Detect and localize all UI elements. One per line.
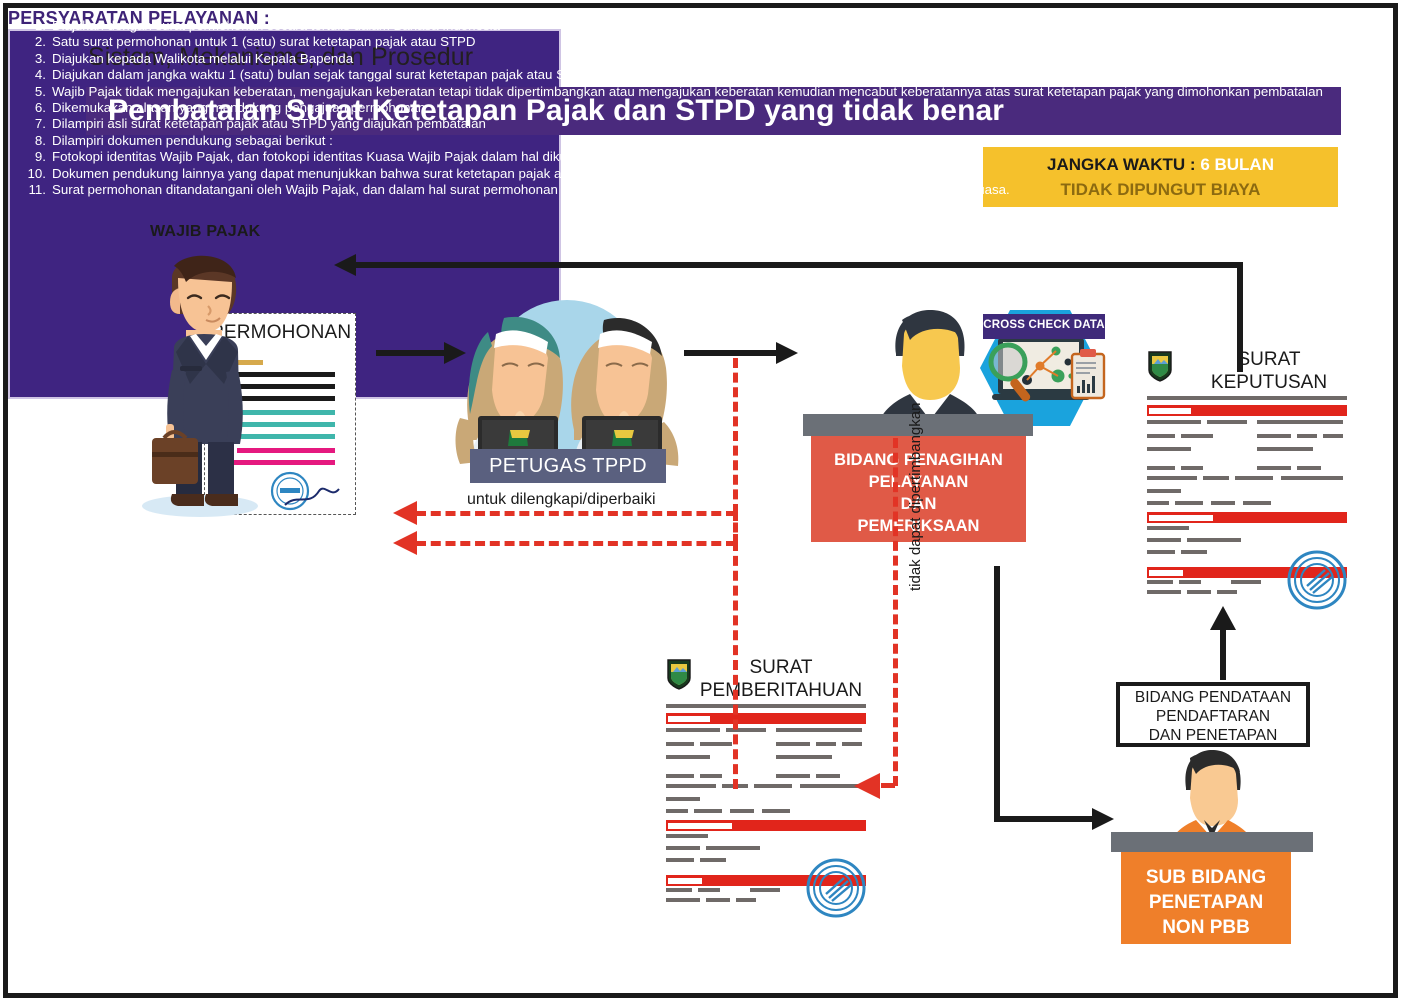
persyaratan-item: 11.Surat permohonan ditandatangani oleh … bbox=[22, 182, 1387, 198]
petugas-to-penagihan-arrow-line bbox=[684, 350, 776, 356]
wajib-pajak-label: WAJIB PAJAK bbox=[150, 223, 260, 241]
official-stamp-icon bbox=[1285, 548, 1349, 612]
red-pemberitahuan-horizontal bbox=[881, 783, 895, 788]
bidang-pendataan-line-2: DAN PENETAPAN bbox=[1149, 727, 1278, 744]
persyaratan-item-number: 11. bbox=[22, 182, 46, 198]
persyaratan-item: 9.Fotokopi identitas Wajib Pajak, dan fo… bbox=[22, 149, 1387, 165]
persyaratan-item: 3.Diajukan kepada Walikota melalui Kepal… bbox=[22, 51, 1387, 67]
city-crest-icon bbox=[666, 658, 692, 690]
persyaratan-item-number: 2. bbox=[22, 34, 46, 50]
sub-bidang-figure bbox=[1164, 748, 1260, 838]
penagihan-to-subbidang-line-vertical bbox=[994, 566, 1000, 822]
surat-keputusan-line-1: KEPUTUSAN bbox=[1185, 371, 1353, 394]
red-return-1-horizontal bbox=[416, 511, 736, 516]
persyaratan-item-number: 8. bbox=[22, 133, 46, 149]
persyaratan-item-text: Fotokopi identitas Wajib Pajak, dan foto… bbox=[52, 149, 614, 164]
perbaiki-note: untuk dilengkapi/diperbaiki bbox=[467, 491, 656, 509]
persyaratan-item-text: Dilampiri dokumen pendukung sebagai beri… bbox=[52, 133, 333, 148]
persyaratan-item-number: 1. bbox=[22, 18, 46, 34]
persyaratan-item: 8.Dilampiri dokumen pendukung sebagai be… bbox=[22, 133, 1387, 149]
persyaratan-list: 1.Diajukan dengan surat permohonan secar… bbox=[22, 18, 1387, 198]
red-pemberitahuan-arrow-head bbox=[854, 773, 880, 799]
persyaratan-item-text: Dikemukakan alasan yang mendukung pengaj… bbox=[52, 100, 425, 115]
persyaratan-item-number: 9. bbox=[22, 149, 46, 165]
red-return-2-arrow-head bbox=[393, 531, 417, 555]
cross-check-data-label: CROSS CHECK DATA bbox=[983, 319, 1105, 331]
official-stamp-icon bbox=[804, 856, 868, 920]
petugas-tppd-label-plate: PETUGAS TPPD bbox=[470, 449, 666, 483]
poster-frame: Sistem, Mekanisme, dan Prosedur Pembatal… bbox=[3, 3, 1398, 998]
sub-bidang-line-2: NON PBB bbox=[1121, 915, 1291, 940]
wp-to-petugas-arrow-line bbox=[376, 350, 444, 356]
persyaratan-item: 4.Diajukan dalam jangka waktu 1 (satu) b… bbox=[22, 67, 1387, 83]
persyaratan-item: 10.Dokumen pendukung lainnya yang dapat … bbox=[22, 166, 1387, 182]
sub-bidang-desk bbox=[1111, 832, 1313, 852]
persyaratan-item: 2.Satu surat permohonan untuk 1 (satu) s… bbox=[22, 34, 1387, 50]
red-return-1-vertical bbox=[733, 358, 738, 514]
persyaratan-item-text: Wajib Pajak tidak mengajukan keberatan, … bbox=[52, 84, 1323, 99]
persyaratan-item: 7.Dilampiri asli surat ketetapan pajak a… bbox=[22, 116, 1387, 132]
sub-bidang-line-1: PENETAPAN bbox=[1121, 890, 1291, 915]
persyaratan-item-number: 7. bbox=[22, 116, 46, 132]
surat-pemberitahuan-line-1: PEMBERITAHUAN bbox=[690, 679, 872, 702]
persyaratan-item-number: 4. bbox=[22, 67, 46, 83]
surat-pemberitahuan-line-0: SURAT bbox=[690, 656, 872, 679]
persyaratan-item: 1.Diajukan dengan surat permohonan secar… bbox=[22, 18, 1387, 34]
persyaratan-item-text: Diajukan kepada Walikota melalui Kepala … bbox=[52, 51, 353, 66]
persyaratan-item-text: Surat permohonan ditandatangani oleh Waj… bbox=[52, 182, 1010, 197]
bidang-pendataan-box: BIDANG PENDATAAN PENDAFTARAN DAN PENETAP… bbox=[1116, 682, 1310, 747]
penagihan-to-subbidang-line-horizontal bbox=[994, 816, 1092, 822]
surat-keputusan-line-0: SURAT bbox=[1185, 348, 1353, 371]
pendataan-up-arrow-head bbox=[1210, 606, 1236, 630]
red-pemberitahuan-vertical bbox=[893, 438, 898, 786]
sub-bidang-line-0: SUB BIDANG bbox=[1121, 865, 1291, 890]
bidang-pendataan-line-0: BIDANG PENDATAAN bbox=[1135, 689, 1291, 706]
pendataan-up-arrow-line bbox=[1220, 628, 1226, 680]
bidang-pendataan-line-1: PENDAFTARAN bbox=[1156, 708, 1270, 725]
persyaratan-item-text: Dilampiri asli surat ketetapan pajak ata… bbox=[52, 116, 486, 131]
penagihan-to-subbidang-arrow-head bbox=[1092, 808, 1114, 830]
persyaratan-item-number: 3. bbox=[22, 51, 46, 67]
petugas-tppd-figures bbox=[448, 290, 686, 470]
persyaratan-item: 6.Dikemukakan alasan yang mendukung peng… bbox=[22, 100, 1387, 116]
surat-keputusan-document: SURAT KEPUTUSAN bbox=[1141, 348, 1353, 606]
red-return-1-arrow-head bbox=[393, 501, 417, 525]
red-return-2-horizontal bbox=[416, 541, 736, 546]
poster-stage: Sistem, Mekanisme, dan Prosedur Pembatal… bbox=[8, 8, 1393, 993]
persyaratan-item-number: 5. bbox=[22, 84, 46, 100]
persyaratan-item-text: Dokumen pendukung lainnya yang dapat men… bbox=[52, 166, 691, 181]
return-arrow-line-horizontal bbox=[353, 262, 1243, 268]
persyaratan-item-text: Diajukan dalam jangka waktu 1 (satu) bul… bbox=[52, 67, 1314, 82]
persyaratan-item-number: 6. bbox=[22, 100, 46, 116]
return-arrow-line-vertical bbox=[1237, 262, 1243, 372]
tidak-dipertimbangkan-note: tidak dapat dipertimbangkan bbox=[907, 391, 924, 591]
petugas-to-penagihan-arrow-head bbox=[776, 342, 798, 364]
surat-pemberitahuan-document: SURAT PEMBERITAHUAN bbox=[660, 656, 872, 914]
sub-bidang-block: SUB BIDANG PENETAPAN NON PBB bbox=[1121, 852, 1291, 944]
city-crest-icon bbox=[1147, 350, 1173, 382]
cross-check-data-badge: CROSS CHECK DATA bbox=[983, 314, 1105, 339]
wp-to-petugas-arrow-head bbox=[444, 342, 466, 364]
petugas-tppd-label: PETUGAS TPPD bbox=[470, 455, 666, 478]
return-arrow-head bbox=[334, 254, 356, 276]
wajib-pajak-figure bbox=[128, 248, 278, 518]
persyaratan-item: 5.Wajib Pajak tidak mengajukan keberatan… bbox=[22, 84, 1387, 100]
red-return-3-vertical bbox=[733, 541, 738, 789]
red-return-2-vertical bbox=[733, 511, 738, 544]
persyaratan-item-text: Diajukan dengan surat permohonan secara … bbox=[52, 18, 500, 33]
persyaratan-item-number: 10. bbox=[22, 166, 46, 182]
persyaratan-item-text: Satu surat permohonan untuk 1 (satu) sur… bbox=[52, 34, 476, 49]
